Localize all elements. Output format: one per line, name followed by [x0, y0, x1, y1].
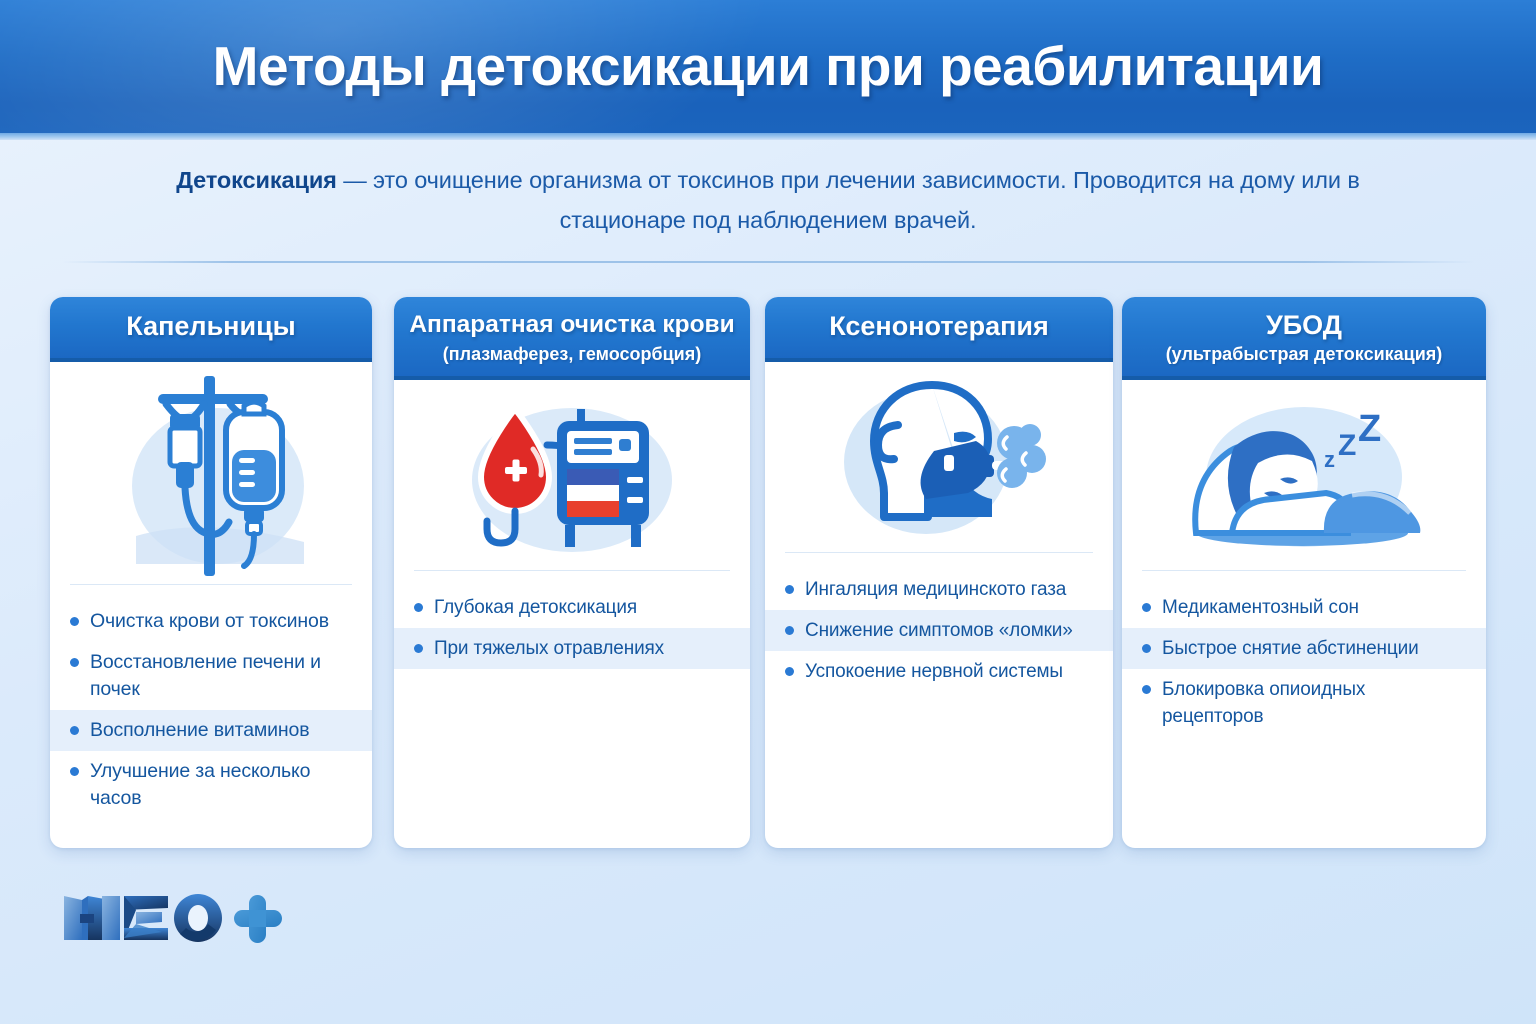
method-card-drip[interactable]: Капельницы	[50, 297, 372, 848]
card-subtitle: (плазмаферез, гемосорбция)	[402, 342, 742, 366]
list-item: Успокоение нервной системы	[765, 651, 1113, 692]
list-item-label: Медикаментозный сон	[1162, 594, 1470, 621]
card-title: Ксенонотерапия	[775, 309, 1103, 343]
iv-drip-icon	[50, 362, 372, 584]
list-item-label: Восстановление печени и почек	[90, 649, 356, 703]
neo-plus-logo	[58, 888, 288, 950]
list-item-label: Ингаляция медицинското газа	[805, 576, 1097, 603]
bullet-dot-icon	[70, 658, 79, 667]
bullet-dot-icon	[785, 626, 794, 635]
benefit-list-drip: Очистка крови от токсинов Восстановление…	[50, 585, 372, 848]
intro-lead-term: Детоксикация	[176, 167, 337, 193]
intro-rest-text: — это очищение организма от токсинов при…	[337, 167, 1360, 233]
card-header-drip: Капельницы	[50, 297, 372, 362]
list-item: Медикаментозный сон	[1122, 587, 1486, 628]
bullet-dot-icon	[70, 617, 79, 626]
list-item-label: Глубокая детоксикация	[434, 594, 734, 621]
benefit-list-ubod: Медикаментозный сон Быстрое снятие абсти…	[1122, 571, 1486, 848]
bullet-dot-icon	[414, 603, 423, 612]
inhalation-mask-icon	[765, 362, 1113, 552]
list-item-label: Восполнение витаминов	[90, 717, 356, 744]
sleeping-patient-icon: z Z Z	[1122, 380, 1486, 570]
method-cards-row: Капельницы	[0, 297, 1536, 852]
list-item: Блокировка опиоидных рецепторов	[1122, 669, 1486, 737]
list-item: Глубокая детоксикация	[394, 587, 750, 628]
bullet-dot-icon	[785, 585, 794, 594]
card-title: Капельницы	[60, 309, 362, 343]
bullet-dot-icon	[414, 644, 423, 653]
list-item: Быстрое снятие абстиненции	[1122, 628, 1486, 669]
list-item-label: Улучшение за несколько часов	[90, 758, 356, 812]
bullet-dot-icon	[1142, 685, 1151, 694]
bullet-dot-icon	[785, 667, 794, 676]
svg-text:Z: Z	[1358, 408, 1381, 450]
header-underline-divider	[0, 133, 1536, 140]
svg-text:Z: Z	[1338, 429, 1356, 462]
list-item: Восстановление печени и почек	[50, 642, 372, 710]
list-item-label: Быстрое снятие абстиненции	[1162, 635, 1470, 662]
bullet-dot-icon	[1142, 603, 1151, 612]
card-header-blood-purification: Аппаратная очистка крови (плазмаферез, г…	[394, 297, 750, 380]
benefit-list-xenon-therapy: Ингаляция медицинското газа Снижение сим…	[765, 553, 1113, 848]
card-header-xenon-therapy: Ксенонотерапия	[765, 297, 1113, 362]
header-banner: Методы детоксикации при реабилитации	[0, 0, 1536, 133]
list-item: Улучшение за несколько часов	[50, 751, 372, 819]
list-item: При тяжелых отравлениях	[394, 628, 750, 669]
card-subtitle: (ультрабыстрая детоксикация)	[1130, 342, 1478, 366]
list-item: Очистка крови от токсинов	[50, 601, 372, 642]
list-item: Ингаляция медицинското газа	[765, 569, 1113, 610]
svg-text:z: z	[1324, 447, 1335, 472]
bullet-dot-icon	[70, 767, 79, 776]
list-item: Снижение симптомов «ломки»	[765, 610, 1113, 651]
method-card-blood-purification[interactable]: Аппаратная очистка крови (плазмаферез, г…	[394, 297, 750, 848]
bullet-dot-icon	[70, 726, 79, 735]
method-card-ubod[interactable]: УБОД (ультрабыстрая детоксикация) z Z Z	[1122, 297, 1486, 848]
card-title: Аппаратная очистка крови	[402, 308, 742, 342]
list-item-label: При тяжелых отравлениях	[434, 635, 734, 662]
list-item-label: Блокировка опиоидных рецепторов	[1162, 676, 1470, 730]
list-item-label: Успокоение нервной системы	[805, 658, 1097, 685]
bullet-dot-icon	[1142, 644, 1151, 653]
intro-divider	[62, 261, 1474, 263]
intro-paragraph: Детоксикация — это очищение организма от…	[160, 160, 1376, 240]
card-title: УБОД	[1130, 308, 1478, 342]
card-header-ubod: УБОД (ультрабыстрая детоксикация)	[1122, 297, 1486, 380]
list-item-label: Очистка крови от токсинов	[90, 608, 356, 635]
list-item-label: Снижение симптомов «ломки»	[805, 617, 1097, 644]
list-item: Восполнение витаминов	[50, 710, 372, 751]
method-card-xenon-therapy[interactable]: Ксенонотерапия	[765, 297, 1113, 848]
page-title: Методы детоксикации при реабилитации	[0, 0, 1536, 133]
benefit-list-blood-purification: Глубокая детоксикация При тяжелых отравл…	[394, 571, 750, 848]
blood-purification-icon	[394, 380, 750, 570]
